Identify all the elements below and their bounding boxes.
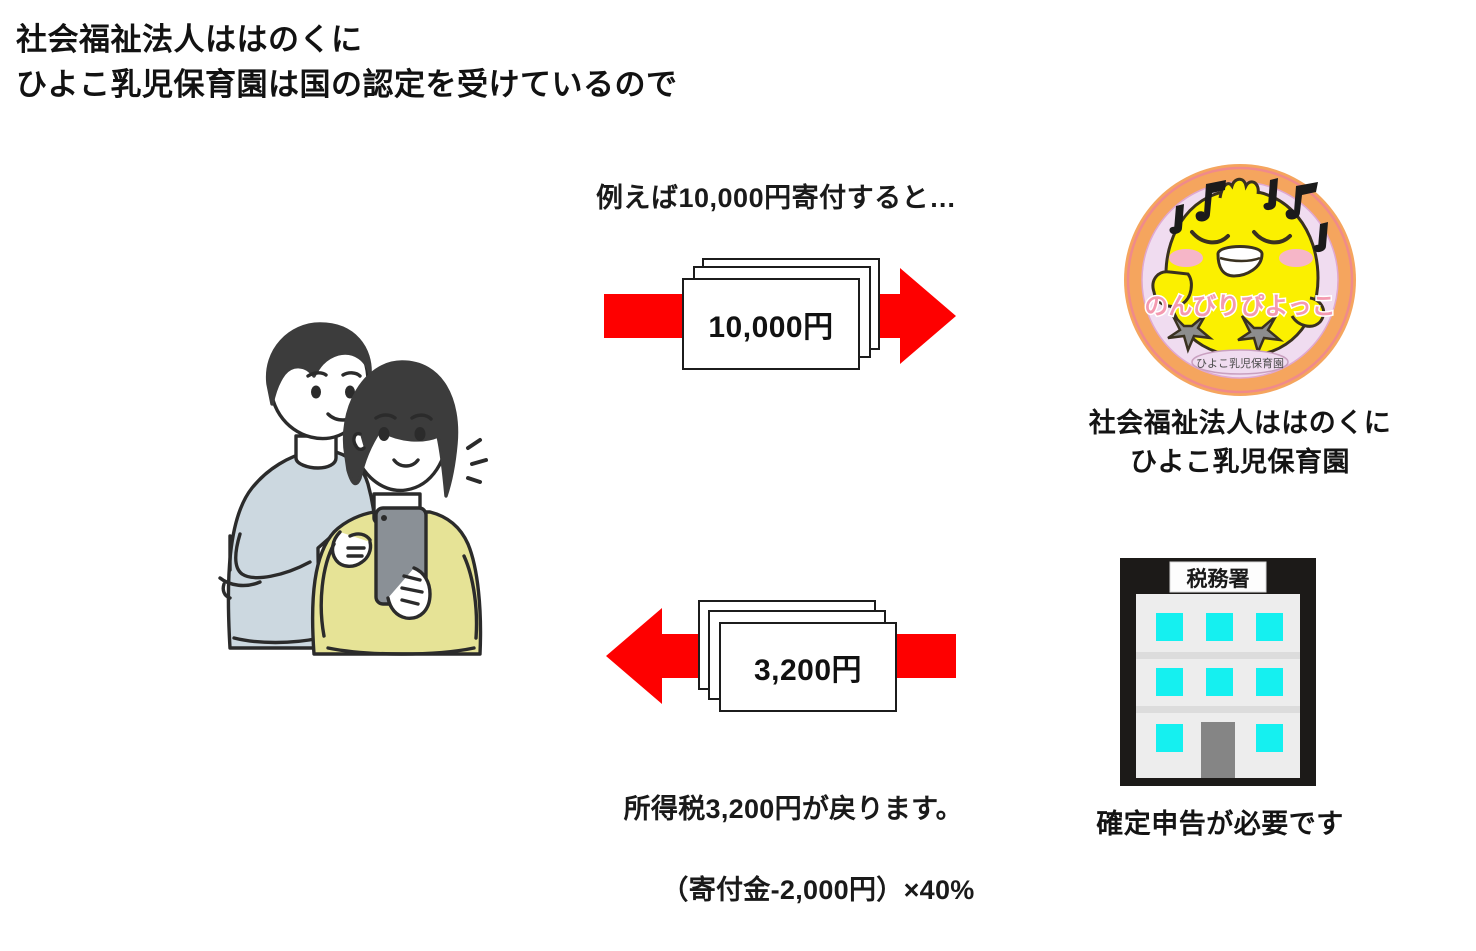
- money-card-front: 10,000円: [682, 278, 860, 370]
- incoming-refund-flow: 3,200円: [600, 596, 960, 720]
- tax-office-illustration: 税務署: [1118, 556, 1318, 788]
- nursery-logo: のんびりぴよっこ ひよこ乳児保育園: [1122, 162, 1358, 398]
- refund-note-line1: 所得税3,200円が戻ります。: [624, 794, 963, 824]
- tax-office-caption: 確定申告が必要です: [1020, 802, 1420, 841]
- donation-caption: 例えば10,000円寄付すると…: [596, 176, 957, 215]
- refund-note: 所得税3,200円が戻ります。 （寄付金-2,000円）×40%: [608, 748, 1028, 951]
- money-card-amount: 10,000円: [708, 302, 833, 346]
- money-card-front: 3,200円: [719, 622, 897, 712]
- couple-illustration: [168, 318, 498, 658]
- mascot-name-text: のんびりぴよっこ: [1144, 293, 1335, 320]
- logo-sub-label: ひよこ乳児保育園: [1196, 356, 1284, 370]
- nursery-name-caption: 社会福祉法人ははのくに ひよこ乳児保育園: [1030, 404, 1450, 482]
- tax-office-sign-text: 税務署: [1187, 567, 1250, 591]
- refund-note-line2: （寄付金-2,000円）×40%: [608, 870, 1028, 911]
- money-card-amount: 3,200円: [754, 645, 862, 689]
- outgoing-donation-flow: 10,000円: [600, 252, 960, 384]
- entrance-door: [1201, 722, 1235, 778]
- page-title: 社会福祉法人ははのくに ひよこ乳児保育園は国の認定を受けているので: [16, 18, 678, 108]
